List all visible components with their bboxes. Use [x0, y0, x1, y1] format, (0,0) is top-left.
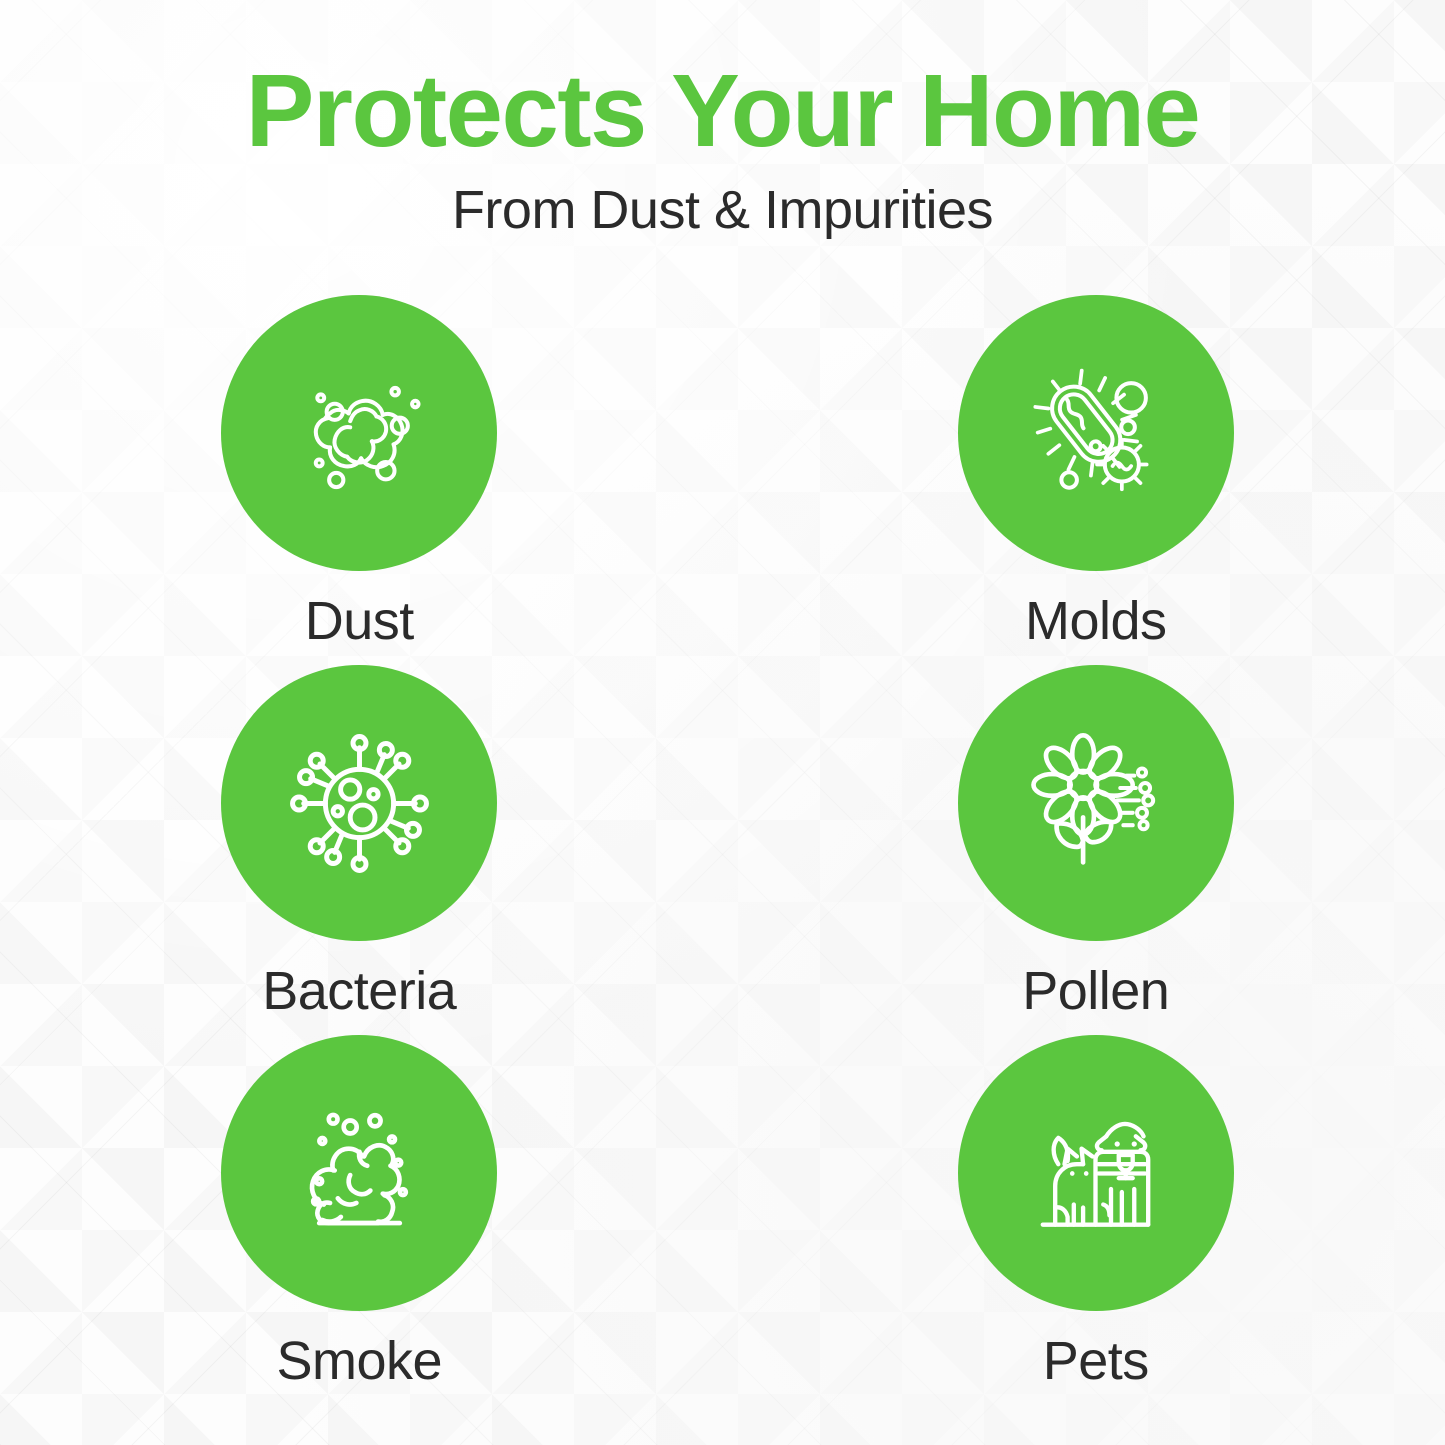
icon-circle-bacteria	[221, 665, 497, 941]
feature-grid: Dust	[0, 295, 1445, 1405]
feature-label-bacteria: Bacteria	[262, 963, 456, 1020]
feature-item-smoke: Smoke	[0, 1035, 721, 1405]
smoke-cloud-icon	[282, 1096, 437, 1251]
infographic-poster: Protects Your Home From Dust & Impuritie…	[0, 0, 1445, 1445]
feature-item-dust: Dust	[0, 295, 721, 665]
page-subtitle: From Dust & Impurities	[0, 181, 1445, 240]
feature-label-molds: Molds	[1025, 593, 1167, 650]
feature-label-smoke: Smoke	[276, 1333, 442, 1390]
feature-item-pollen: Pollen	[735, 665, 1445, 1035]
header: Protects Your Home From Dust & Impuritie…	[0, 0, 1445, 240]
feature-item-pets: Pets	[735, 1035, 1445, 1405]
feature-label-pets: Pets	[1043, 1333, 1149, 1390]
icon-circle-pollen	[958, 665, 1234, 941]
mold-bacteria-icon	[1018, 356, 1173, 511]
page-title: Protects Your Home	[0, 58, 1445, 163]
feature-label-dust: Dust	[305, 593, 414, 650]
dog-cat-icon	[1018, 1096, 1173, 1251]
feature-item-bacteria: Bacteria	[0, 665, 721, 1035]
dust-cloud-icon	[282, 356, 437, 511]
icon-circle-dust	[221, 295, 497, 571]
icon-circle-pets	[958, 1035, 1234, 1311]
icon-circle-smoke	[221, 1035, 497, 1311]
virus-icon	[282, 726, 437, 881]
flower-pollen-icon	[1018, 726, 1173, 881]
feature-label-pollen: Pollen	[1022, 963, 1169, 1020]
icon-circle-molds	[958, 295, 1234, 571]
feature-item-molds: Molds	[735, 295, 1445, 665]
